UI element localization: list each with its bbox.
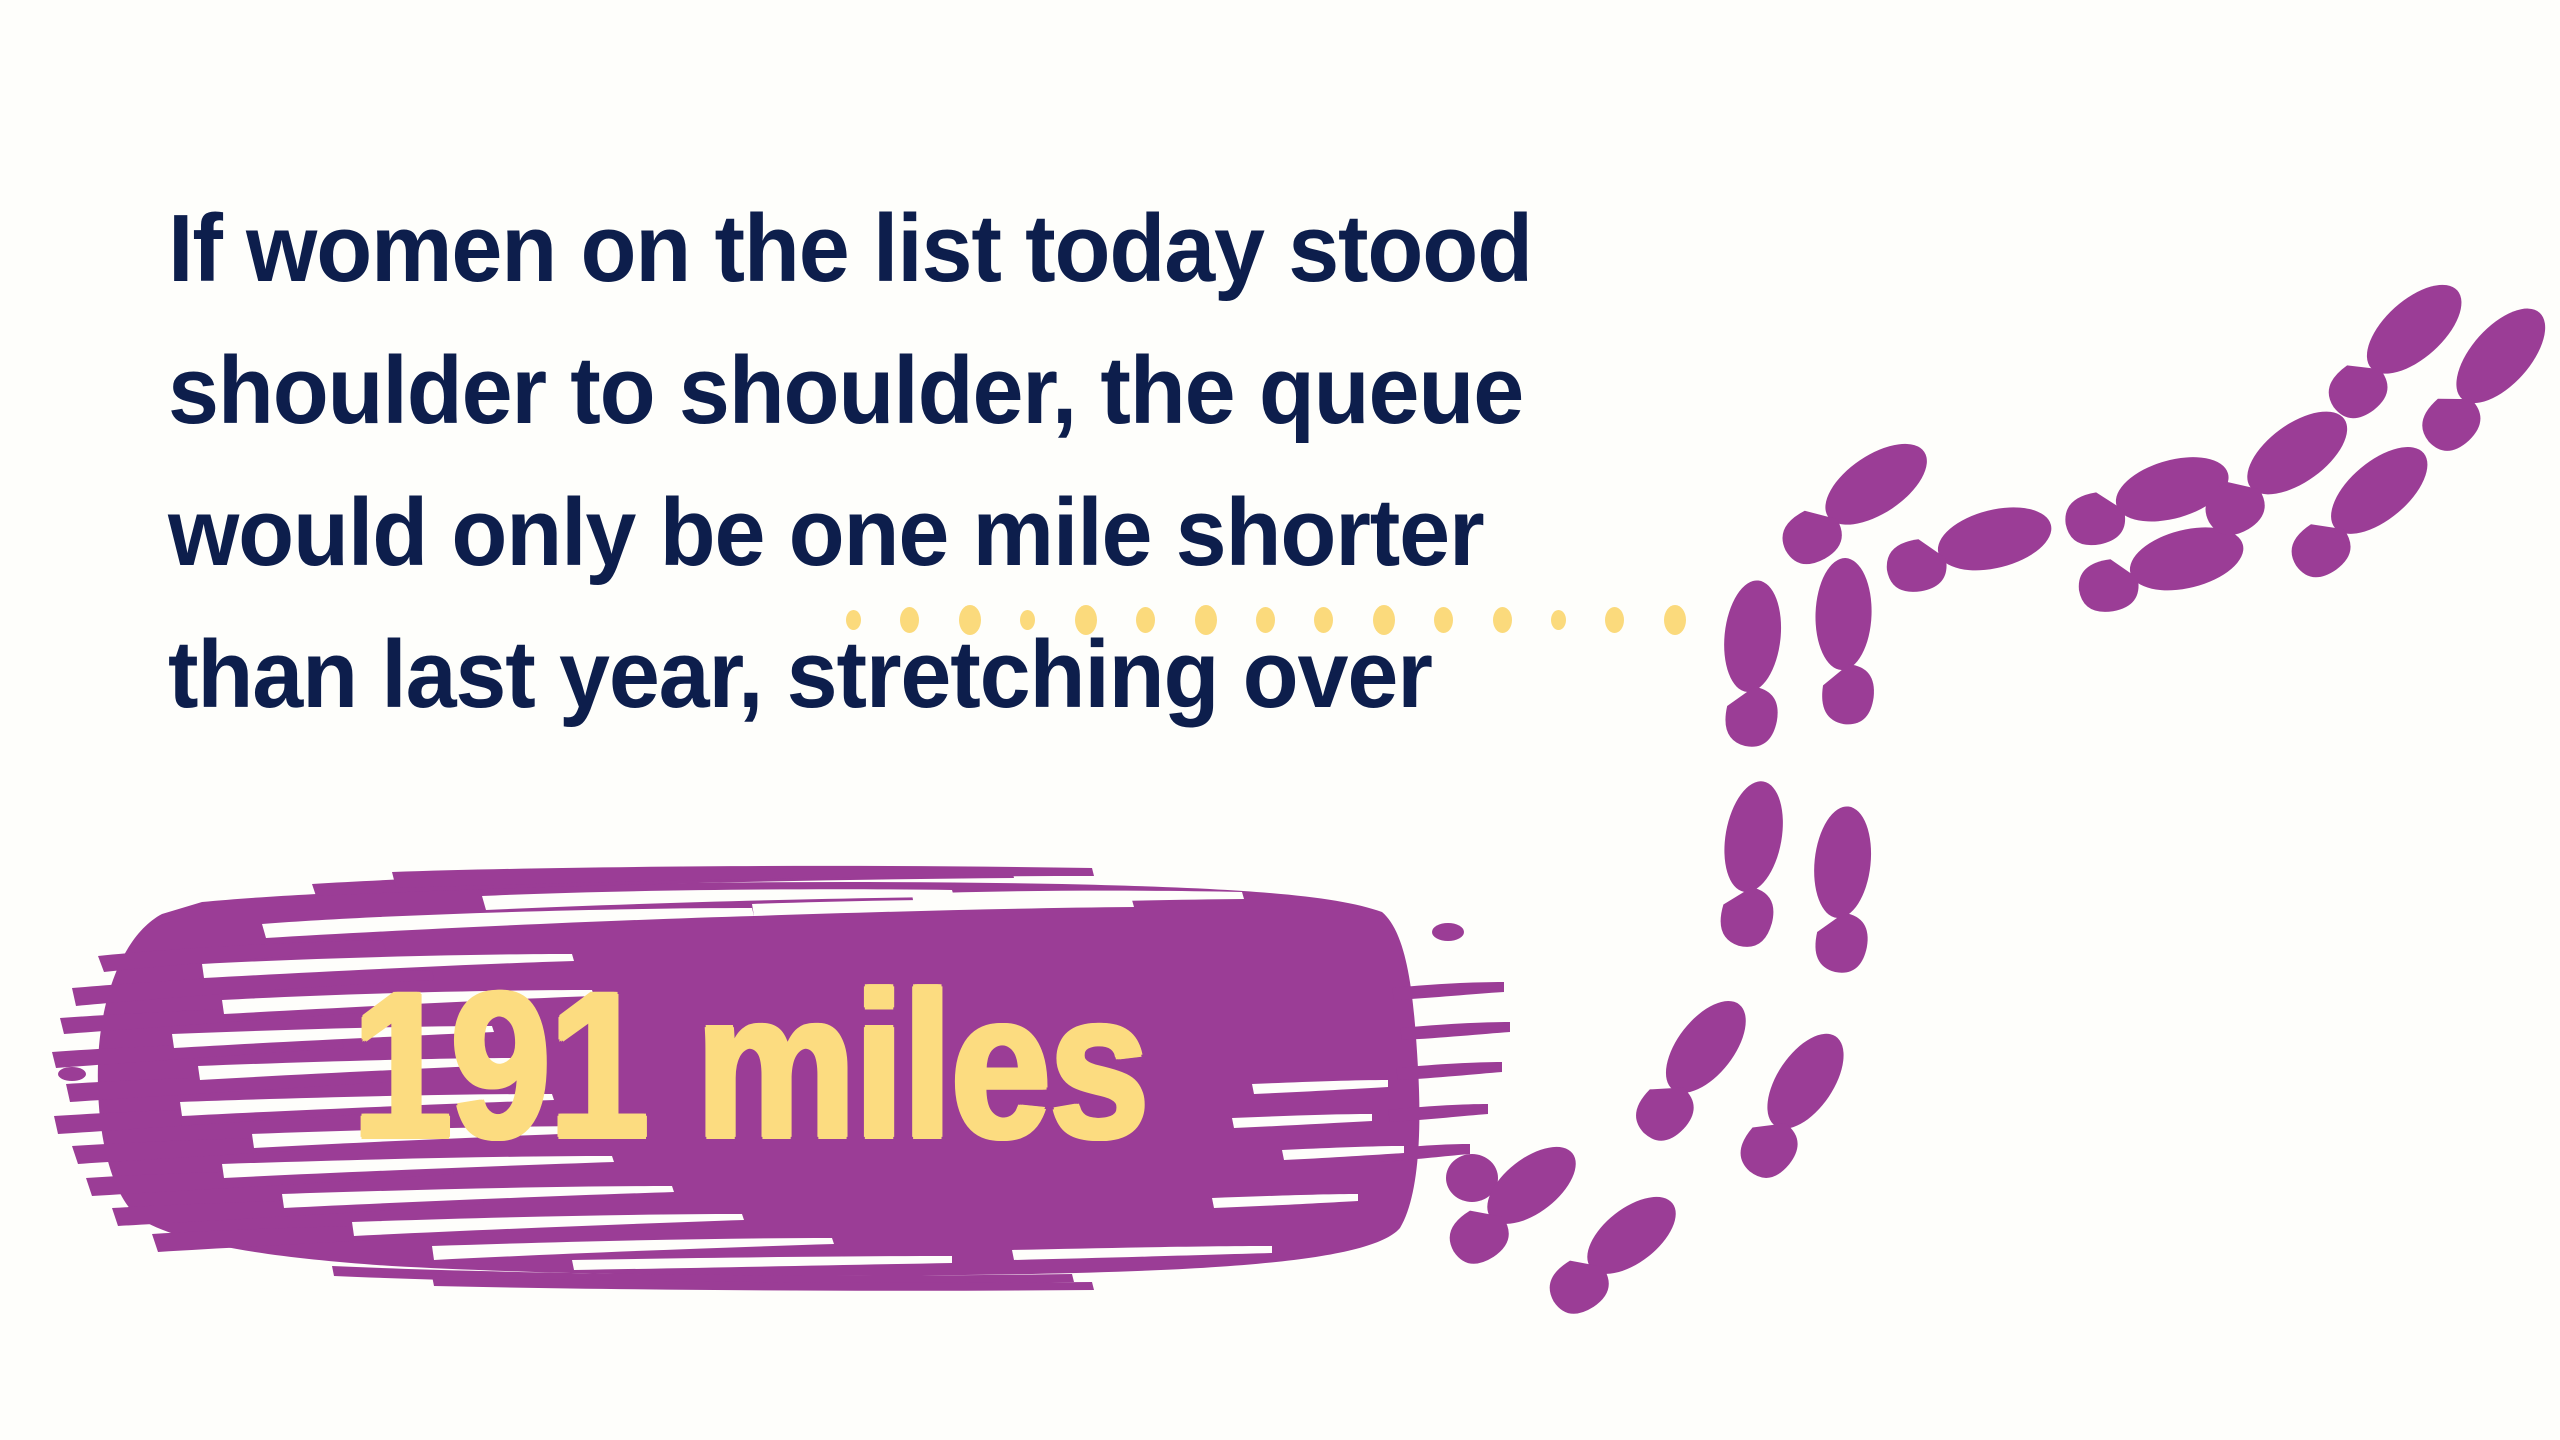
footprint: [1618, 987, 1765, 1151]
headline-line-3: would only be one mile shorter: [168, 462, 1715, 604]
footprint: [1812, 557, 1879, 725]
rule-dot: [1020, 610, 1035, 630]
rule-dot: [1373, 605, 1395, 635]
infographic-canvas: If women on the list today stood shoulde…: [0, 0, 2560, 1440]
rule-dot: [900, 607, 919, 633]
rule-dot: [1493, 607, 1512, 633]
footprint: [1707, 777, 1796, 951]
rule-dot: [1256, 607, 1275, 633]
footprint-trail-svg: [1520, 250, 2560, 1250]
footprint: [1534, 1182, 1692, 1324]
footprint: [1879, 497, 2059, 598]
purple-footprint-trail: [1520, 250, 2560, 1250]
footprint: [1713, 578, 1791, 750]
headline-line-2: shoulder to shoulder, the queue: [168, 320, 1715, 462]
footprint: [1803, 804, 1881, 976]
rule-dot: [1075, 605, 1097, 635]
footprint: [1723, 1021, 1863, 1188]
rule-dot: [959, 605, 981, 635]
rule-dot: [1195, 605, 1217, 635]
rule-dot: [1314, 607, 1333, 633]
rule-dot: [1136, 607, 1155, 633]
rule-dot: [1434, 607, 1453, 633]
headline-line-1: If women on the list today stood: [168, 178, 1715, 320]
stat-value: 191 miles: [352, 962, 1147, 1170]
rule-dot: [846, 610, 861, 630]
